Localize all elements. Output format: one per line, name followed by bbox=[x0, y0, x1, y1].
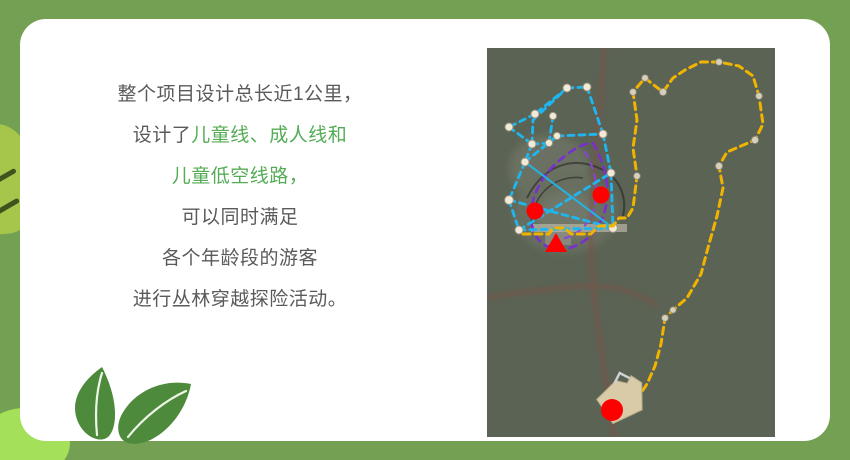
marker-red-dot-west[interactable] bbox=[527, 203, 544, 220]
leaf-decoration-group bbox=[62, 364, 198, 446]
description-line-6: 进行丛林穿越探险活动。 bbox=[60, 279, 420, 320]
marker-red-dot-east[interactable] bbox=[593, 187, 610, 204]
description-line-1: 整个项目设计总长近1公里， bbox=[60, 74, 420, 115]
description-line-5: 各个年龄段的游客 bbox=[60, 238, 420, 279]
leaf-icon-upright bbox=[75, 367, 115, 440]
marker-red-dot-basecamp[interactable] bbox=[601, 399, 623, 421]
leaf-icon-tilted bbox=[118, 383, 191, 444]
description-line-2-plain: 设计了 bbox=[133, 125, 192, 146]
description-line-3: 儿童低空线路， bbox=[60, 156, 420, 197]
route-map[interactable] bbox=[487, 48, 775, 437]
description-text-block: 整个项目设计总长近1公里， 设计了儿童线、成人线和 儿童低空线路， 可以同时满足… bbox=[60, 74, 420, 320]
description-line-4: 可以同时满足 bbox=[60, 197, 420, 238]
description-line-2-highlight: 儿童线、成人线和 bbox=[191, 125, 347, 146]
route-map-canvas[interactable] bbox=[487, 48, 775, 437]
slide-stage: 整个项目设计总长近1公里， 设计了儿童线、成人线和 儿童低空线路， 可以同时满足… bbox=[0, 0, 850, 460]
description-line-2: 设计了儿童线、成人线和 bbox=[60, 115, 420, 156]
